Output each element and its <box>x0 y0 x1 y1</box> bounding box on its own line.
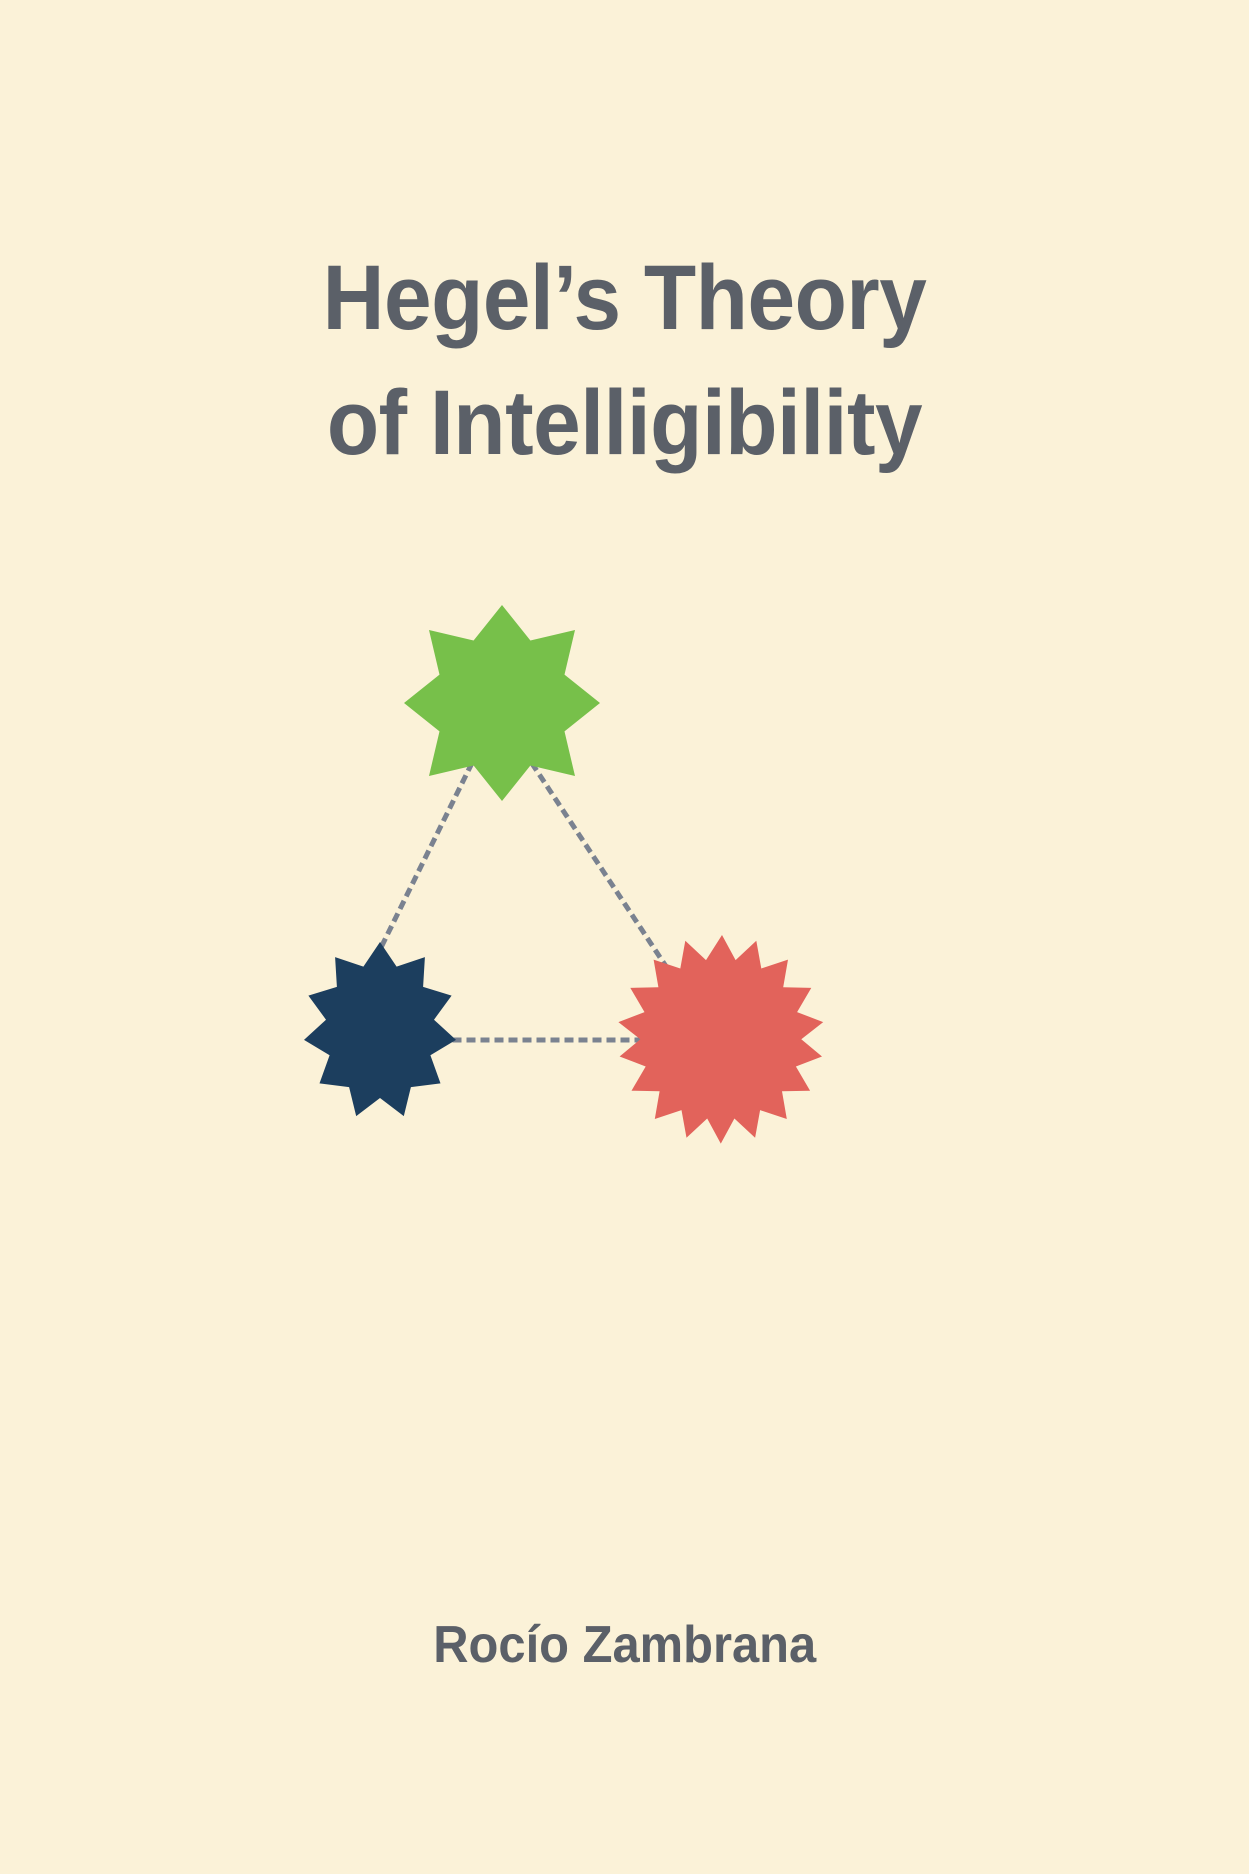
artwork-svg <box>275 580 975 1180</box>
connector-top-right-icon <box>533 765 675 980</box>
book-cover: Hegel’s Theory of Intelligibility <box>0 0 1249 1874</box>
title-line-2: of Intelligibility <box>100 361 1150 486</box>
node-bottom-left-star-icon <box>304 942 456 1116</box>
title-line-1: Hegel’s Theory <box>100 236 1150 361</box>
author-name: Rocío Zambrana <box>433 1614 816 1676</box>
book-author: Rocío Zambrana <box>0 1614 1249 1676</box>
node-bottom-right-star-icon <box>618 935 823 1144</box>
node-top-star-icon <box>404 605 600 801</box>
cover-artwork <box>0 580 1249 1200</box>
book-title: Hegel’s Theory of Intelligibility <box>0 236 1249 486</box>
